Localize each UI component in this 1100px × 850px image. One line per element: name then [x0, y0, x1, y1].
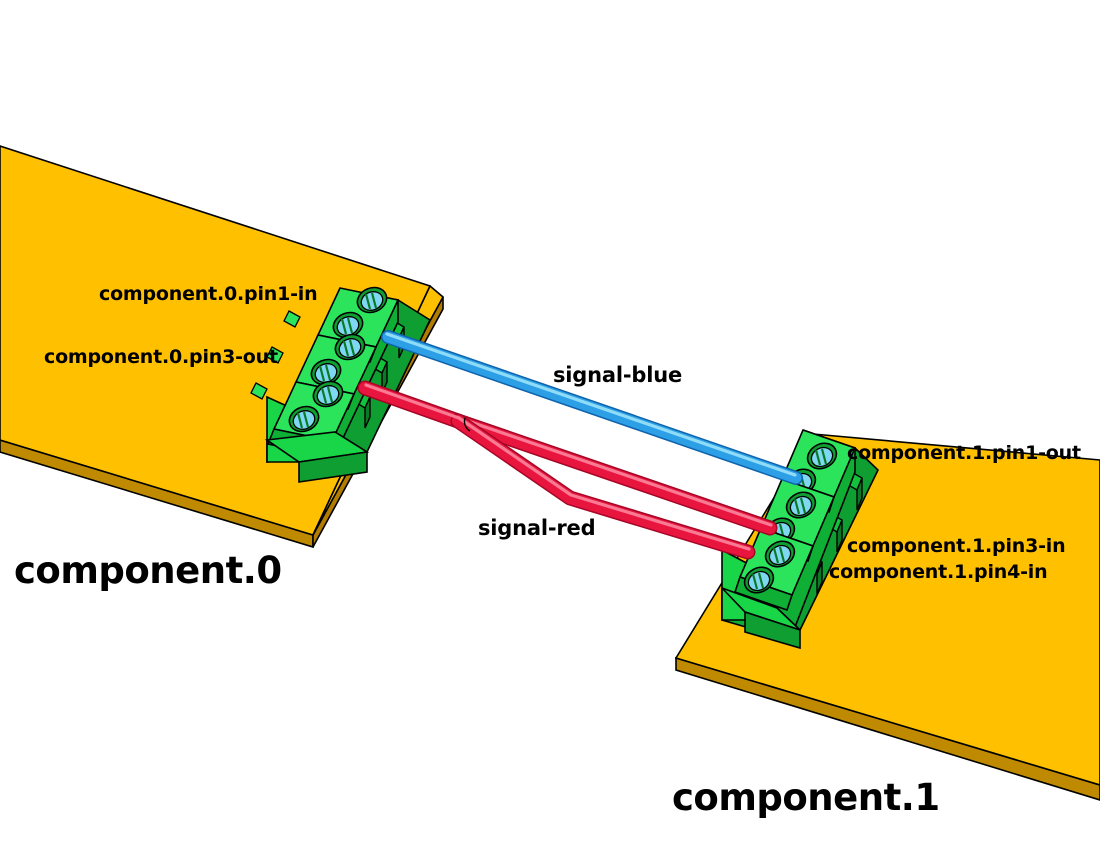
- diagram-canvas: component.0.pin1-in component.0.pin3-out…: [0, 0, 1100, 850]
- wire-signal-blue-highlight: [387, 334, 795, 475]
- wire-signal-blue[interactable]: [387, 334, 796, 478]
- label-component-1-pin4-in: component.1.pin4-in: [829, 563, 1047, 582]
- label-component-1: component.1: [672, 779, 940, 816]
- label-component-1-pin3-in: component.1.pin3-in: [847, 537, 1065, 556]
- scene-svg: [0, 0, 1100, 850]
- wire-signal-blue-body: [388, 337, 796, 478]
- label-component-1-pin1-out: component.1.pin1-out: [847, 444, 1081, 463]
- label-signal-red: signal-red: [478, 518, 595, 539]
- label-component-0: component.0: [14, 552, 282, 589]
- label-component-0-pin1-in: component.0.pin1-in: [99, 285, 317, 304]
- label-signal-blue: signal-blue: [553, 365, 682, 386]
- label-component-0-pin3-out: component.0.pin3-out: [44, 348, 278, 367]
